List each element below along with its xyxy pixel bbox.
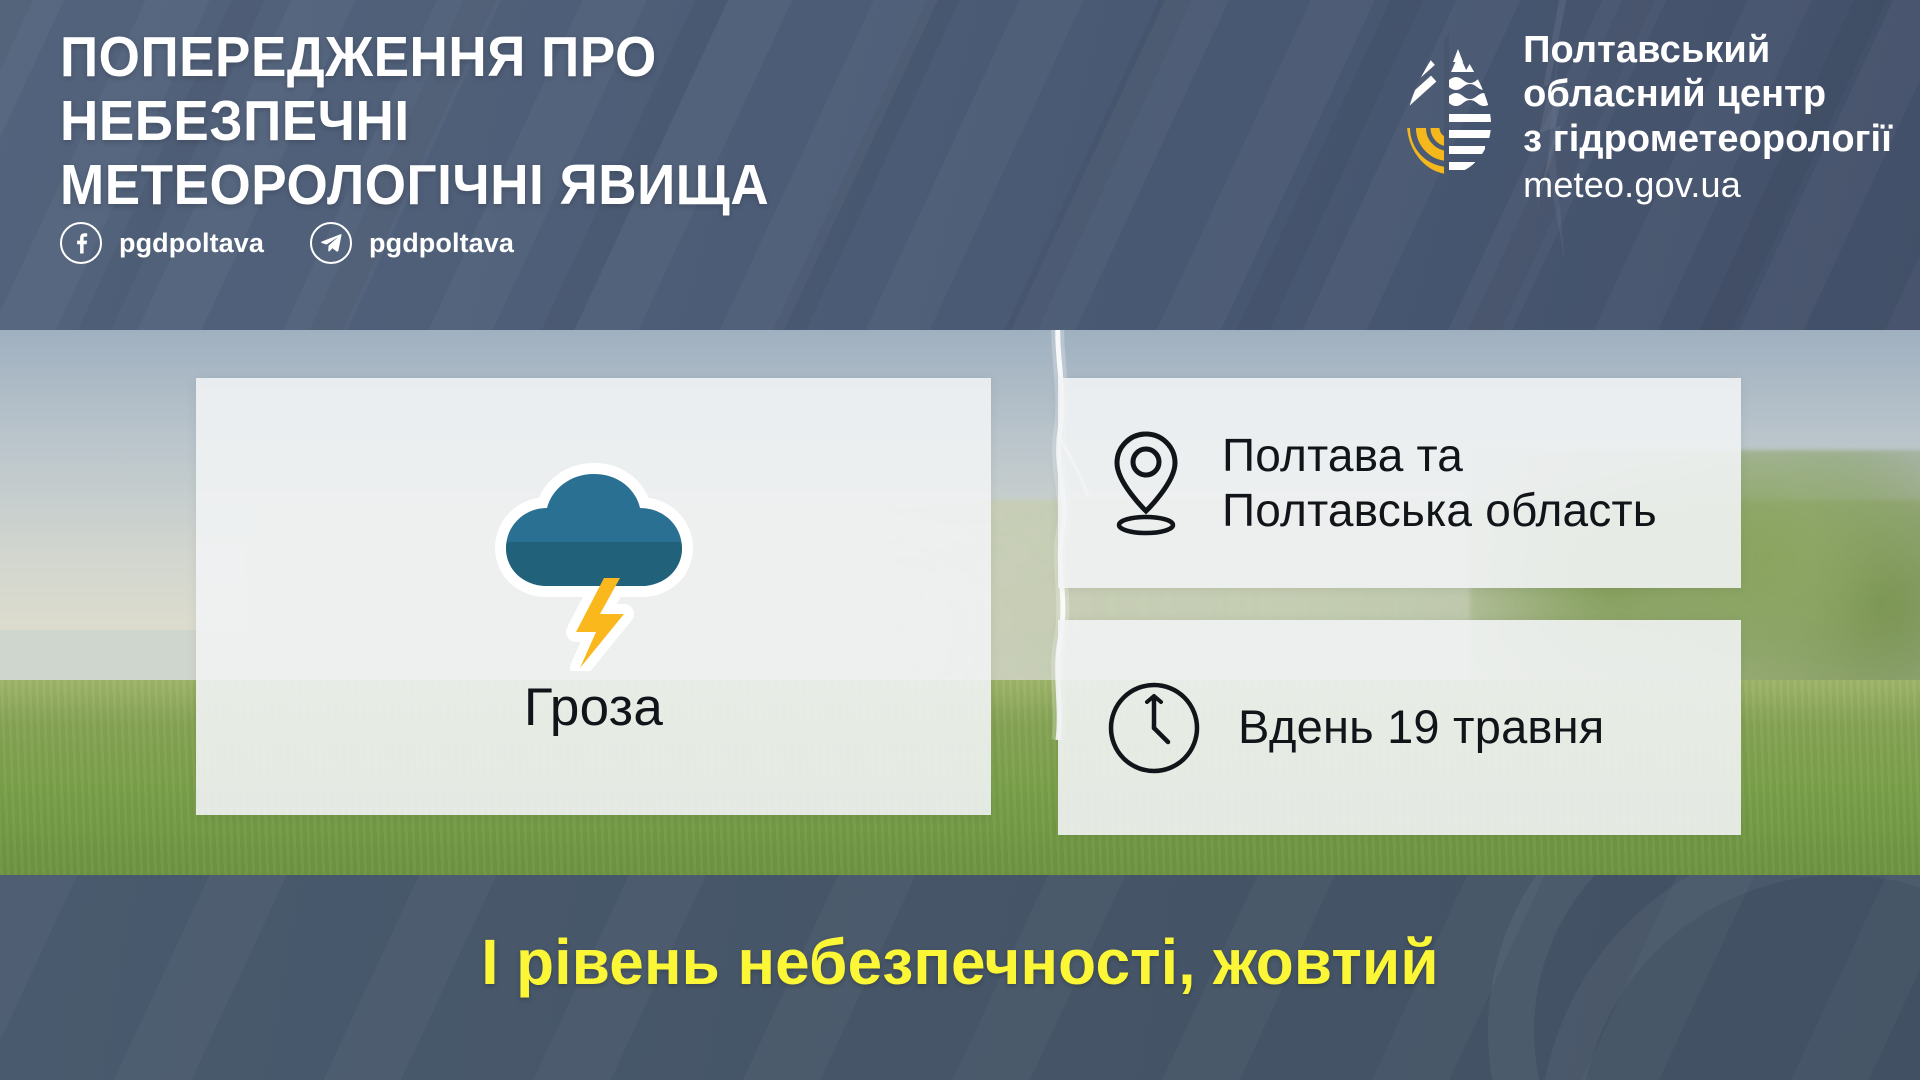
danger-level-text: І рівень небезпечності, жовтий [29,925,1891,999]
organization-branding: Полтавський обласний центр з гідрометеор… [1401,28,1892,207]
date-card: Вдень 19 травня [1058,620,1741,835]
telegram-handle: pgdpoltava [369,228,514,259]
facebook-handle: pgdpoltava [119,228,264,259]
organization-name: Полтавський обласний центр з гідрометеор… [1523,28,1892,207]
region-line-1: Полтава та [1222,428,1657,483]
region-card: Полтава та Полтавська область [1058,378,1741,588]
thunderstorm-icon [484,456,704,671]
region-line-2: Полтавська область [1222,483,1657,538]
map-pin-icon [1106,427,1186,539]
photo-background-band: Гроза Полтава та Полтавська область Вден… [0,330,1920,875]
title-line-2: МЕТЕОРОЛОГІЧНІ ЯВИЩА [60,154,990,218]
title-line-1: ПОПЕРЕДЖЕННЯ ПРО НЕБЕЗПЕЧНІ [60,26,990,154]
brand-line-1: Полтавський [1523,28,1892,72]
brand-line-2: обласний центр [1523,72,1892,116]
date-text: Вдень 19 травня [1238,699,1604,755]
weather-warning-poster: ПОПЕРЕДЖЕННЯ ПРО НЕБЕЗПЕЧНІ МЕТЕОРОЛОГІЧ… [0,0,1920,1080]
phenomenon-card: Гроза [196,378,991,815]
social-link-telegram[interactable]: pgdpoltava [310,222,514,264]
page-title: ПОПЕРЕДЖЕННЯ ПРО НЕБЕЗПЕЧНІ МЕТЕОРОЛОГІЧ… [60,26,990,217]
social-links: pgdpoltava pgdpoltava [60,222,514,264]
water-droplet-logo [1401,32,1497,177]
clock-icon [1106,680,1202,776]
phenomenon-label: Гроза [524,677,663,738]
region-text: Полтава та Полтавська область [1222,428,1657,538]
header-banner: ПОПЕРЕДЖЕННЯ ПРО НЕБЕЗПЕЧНІ МЕТЕОРОЛОГІЧ… [0,0,1920,330]
telegram-icon [310,222,352,264]
brand-line-3: з гідрометеорології [1523,117,1892,161]
organization-website[interactable]: meteo.gov.ua [1523,163,1892,206]
footer-banner: І рівень небезпечності, жовтий [0,875,1920,1080]
social-link-facebook[interactable]: pgdpoltava [60,222,264,264]
facebook-icon [60,222,102,264]
